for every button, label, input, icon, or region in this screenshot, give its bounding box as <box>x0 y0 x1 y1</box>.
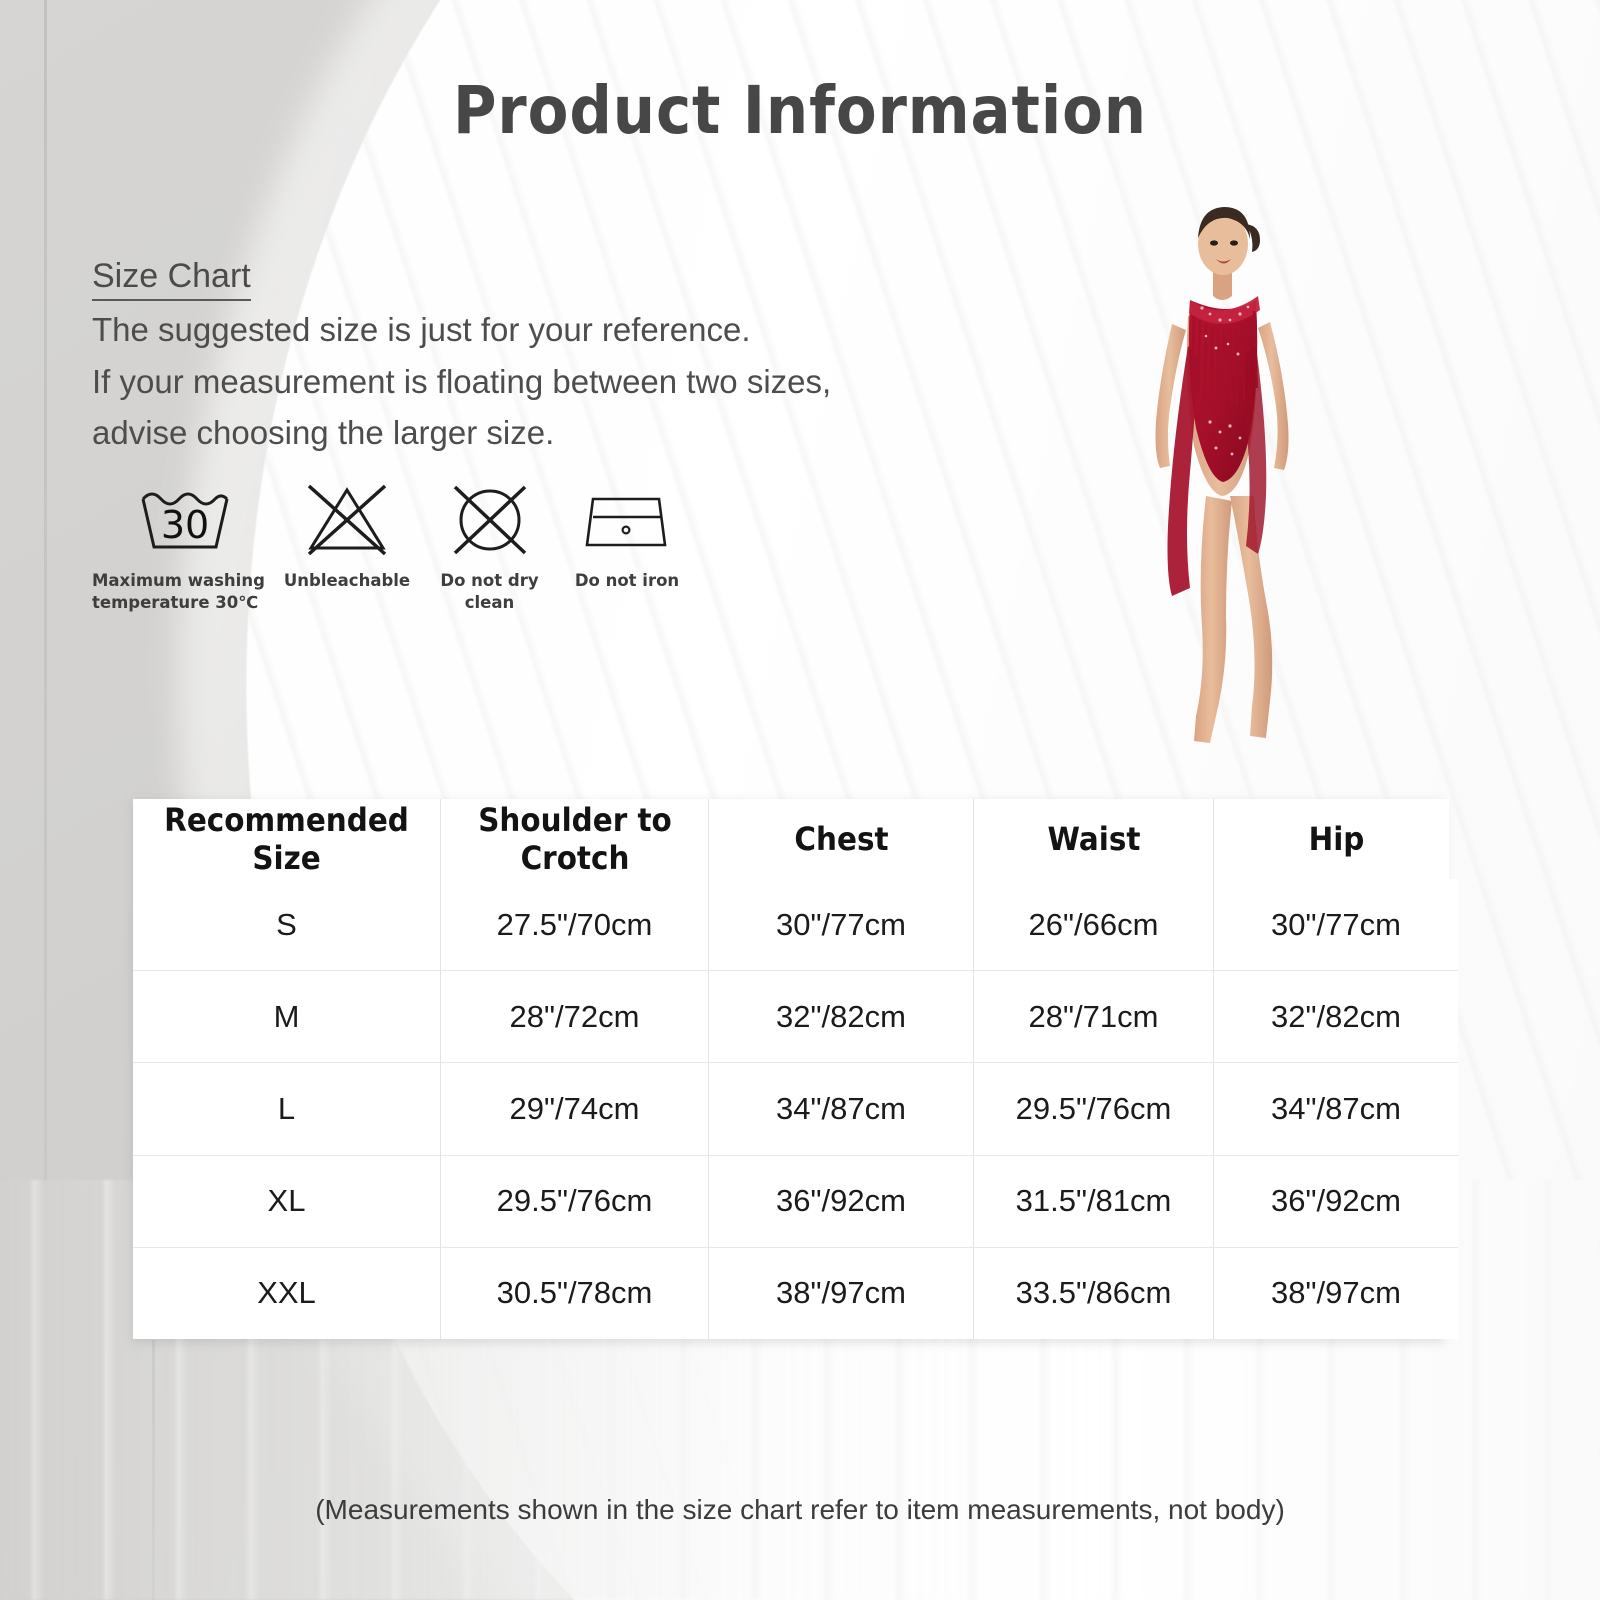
cell-chest: 34"/87cm <box>709 1063 974 1155</box>
cell-shoulder-to-crotch: 29"/74cm <box>441 1063 709 1155</box>
cell-hip: 34"/87cm <box>1214 1063 1459 1155</box>
cell-hip: 36"/92cm <box>1214 1155 1459 1247</box>
cell-shoulder-to-crotch: 28"/72cm <box>441 971 709 1063</box>
cell-shoulder-to-crotch: 29.5"/76cm <box>441 1155 709 1247</box>
cell-shoulder-to-crotch: 30.5"/78cm <box>441 1247 709 1339</box>
care-label-dry-clean: Do not dry clean <box>417 570 562 615</box>
product-model-photo <box>1110 196 1340 756</box>
measurement-disclaimer: (Measurements shown in the size chart re… <box>0 1494 1600 1526</box>
no-dry-clean-icon <box>447 482 533 558</box>
column-header-hip: Hip <box>1223 799 1448 879</box>
cell-size: L <box>133 1063 441 1155</box>
cell-hip: 30"/77cm <box>1214 879 1459 971</box>
cell-chest: 36"/92cm <box>709 1155 974 1247</box>
cell-size: XXL <box>133 1247 441 1339</box>
table-header-row: Recommended Size Shoulder to Crotch Ches… <box>133 799 1458 879</box>
cell-waist: 33.5"/86cm <box>974 1247 1214 1339</box>
cell-chest: 38"/97cm <box>709 1247 974 1339</box>
cell-hip: 32"/82cm <box>1214 971 1459 1063</box>
size-chart-note-line: If your measurement is floating between … <box>92 359 831 405</box>
no-iron-icon <box>581 482 673 558</box>
no-bleach-icon <box>299 482 395 558</box>
cell-hip: 38"/97cm <box>1214 1247 1459 1339</box>
care-label-iron: Do not iron <box>575 570 679 592</box>
care-label-bleach: Unbleachable <box>284 570 410 592</box>
size-chart-table-container: Recommended Size Shoulder to Crotch Ches… <box>133 799 1444 1339</box>
cell-size: XL <box>133 1155 441 1247</box>
column-header-waist: Waist <box>983 799 1204 879</box>
wash-tub-30-icon: 30 <box>135 482 235 558</box>
cell-waist: 28"/71cm <box>974 971 1214 1063</box>
cell-chest: 30"/77cm <box>709 879 974 971</box>
cell-waist: 31.5"/81cm <box>974 1155 1214 1247</box>
table-row: XXL 30.5"/78cm 38"/97cm 33.5"/86cm 38"/9… <box>133 1247 1458 1339</box>
table-row: XL 29.5"/76cm 36"/92cm 31.5"/81cm 36"/92… <box>133 1155 1458 1247</box>
cell-waist: 29.5"/76cm <box>974 1063 1214 1155</box>
column-header-recommended-size: Recommended Size <box>145 799 428 879</box>
cell-size: M <box>133 971 441 1063</box>
cell-waist: 26"/66cm <box>974 879 1214 971</box>
column-header-shoulder-to-crotch: Shoulder to Crotch <box>451 799 698 879</box>
size-chart-note-line: The suggested size is just for your refe… <box>92 307 831 353</box>
wall-seam-line-lower <box>152 1340 155 1600</box>
care-item-iron: Do not iron <box>562 482 692 592</box>
care-item-wash: 30 Maximum washingtemperature 30℃ <box>92 482 277 615</box>
size-chart-table: Recommended Size Shoulder to Crotch Ches… <box>133 799 1458 1339</box>
table-row: M 28"/72cm 32"/82cm 28"/71cm 32"/82cm <box>133 971 1458 1063</box>
wash-temperature-value: 30 <box>160 503 208 547</box>
column-header-chest: Chest <box>719 799 963 879</box>
care-label-wash: Maximum washingtemperature 30℃ <box>92 570 277 615</box>
product-information-page: Product Information Size Chart The sugge… <box>0 0 1600 1600</box>
care-item-bleach: Unbleachable <box>277 482 417 592</box>
size-chart-note: Size Chart The suggested size is just fo… <box>92 258 831 456</box>
cell-shoulder-to-crotch: 27.5"/70cm <box>441 879 709 971</box>
care-item-dry-clean: Do not dry clean <box>417 482 562 615</box>
size-chart-note-line: advise choosing the larger size. <box>92 410 831 456</box>
cell-chest: 32"/82cm <box>709 971 974 1063</box>
page-title: Product Information <box>80 72 1520 149</box>
table-row: S 27.5"/70cm 30"/77cm 26"/66cm 30"/77cm <box>133 879 1458 971</box>
table-row: L 29"/74cm 34"/87cm 29.5"/76cm 34"/87cm <box>133 1063 1458 1155</box>
care-instructions: 30 Maximum washingtemperature 30℃ Unblea… <box>92 482 692 615</box>
cell-size: S <box>133 879 441 971</box>
size-chart-heading: Size Chart <box>92 258 251 301</box>
